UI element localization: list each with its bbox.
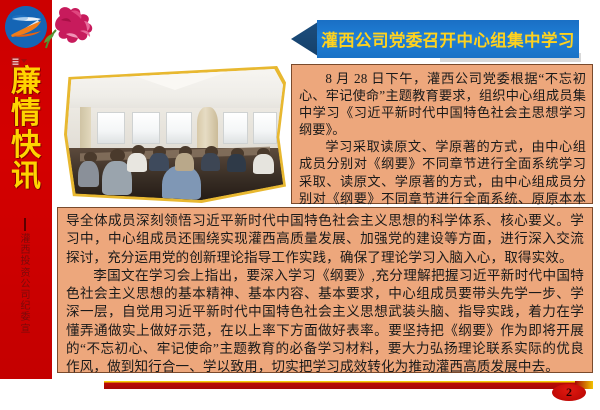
intro-text-panel: 8 月 28 日下午，灌西公司党委根据“不忘初心、牢记使命”主题教育要求，组织中… <box>291 64 593 204</box>
banner-title-char-1: 廉 <box>2 66 50 98</box>
page-title: 灌西公司党委召开中心组集中学习 <box>321 27 575 51</box>
intro-paragraph-1: 8 月 28 日下午，灌西公司党委根据“不忘初心、牢记使命”主题教育要求，组织中… <box>299 70 586 138</box>
banner-title: 廉 情 快 讯 <box>2 66 50 193</box>
banner-title-char-2: 情 <box>2 98 50 130</box>
banner-subtitle-char-5: 公 <box>17 279 34 290</box>
meeting-room-photo <box>64 66 286 203</box>
meeting-room-photo-image <box>67 69 283 200</box>
banner-subtitle-char-2: 西 <box>17 245 34 256</box>
banner-subtitle-char-1: 灌 <box>17 234 34 245</box>
company-z-logo-icon <box>5 6 47 48</box>
title-bar: 灌西公司党委召开中心组集中学习 <box>317 20 579 58</box>
banner-title-char-4: 讯 <box>2 161 50 193</box>
body-paragraph-2: 李国文在学习会上指出，要深入学习《纲要》,充分理解把握习近平新时代中国特色社会主… <box>66 267 584 377</box>
magnolia-flower-icon <box>44 4 106 52</box>
body-paragraph-1: 导全体成员深刻领悟习近平新时代中国特色社会主义思想的科学体系、核心要义。学习中，… <box>66 212 584 267</box>
banner-subtitle-char-6: 司 <box>17 290 34 301</box>
body-text-panel: 导全体成员深刻领悟习近平新时代中国特色社会主义思想的科学体系、核心要义。学习中，… <box>57 207 593 373</box>
banner-subtitle-char-8: 委 <box>17 312 34 323</box>
banner-divider <box>24 218 26 231</box>
banner-subtitle-char-3: 投 <box>17 256 34 267</box>
banner-subtitle-char-9: 宣 <box>17 324 34 335</box>
footer-rule <box>104 381 592 389</box>
intro-text: 8 月 28 日下午，灌西公司党委根据“不忘初心、牢记使命”主题教育要求，组织中… <box>299 70 586 224</box>
article-title-banner: 灌西公司党委召开中心组集中学习 <box>291 20 579 58</box>
body-text: 导全体成员深刻领悟习近平新时代中国特色社会主义思想的科学体系、核心要义。学习中，… <box>66 212 584 377</box>
newsletter-page: 廉 情 快 讯 灌 西 投 资 公 司 纪 委 宣 灌西公司党委召开中心组集中学… <box>0 0 600 410</box>
banner-subtitle: 灌 西 投 资 公 司 纪 委 宣 <box>17 234 34 335</box>
page-number-badge: 2 <box>552 384 586 401</box>
banner-title-char-3: 快 <box>2 130 50 162</box>
banner-subtitle-char-4: 资 <box>17 268 34 279</box>
banner-subtitle-char-7: 纪 <box>17 301 34 312</box>
